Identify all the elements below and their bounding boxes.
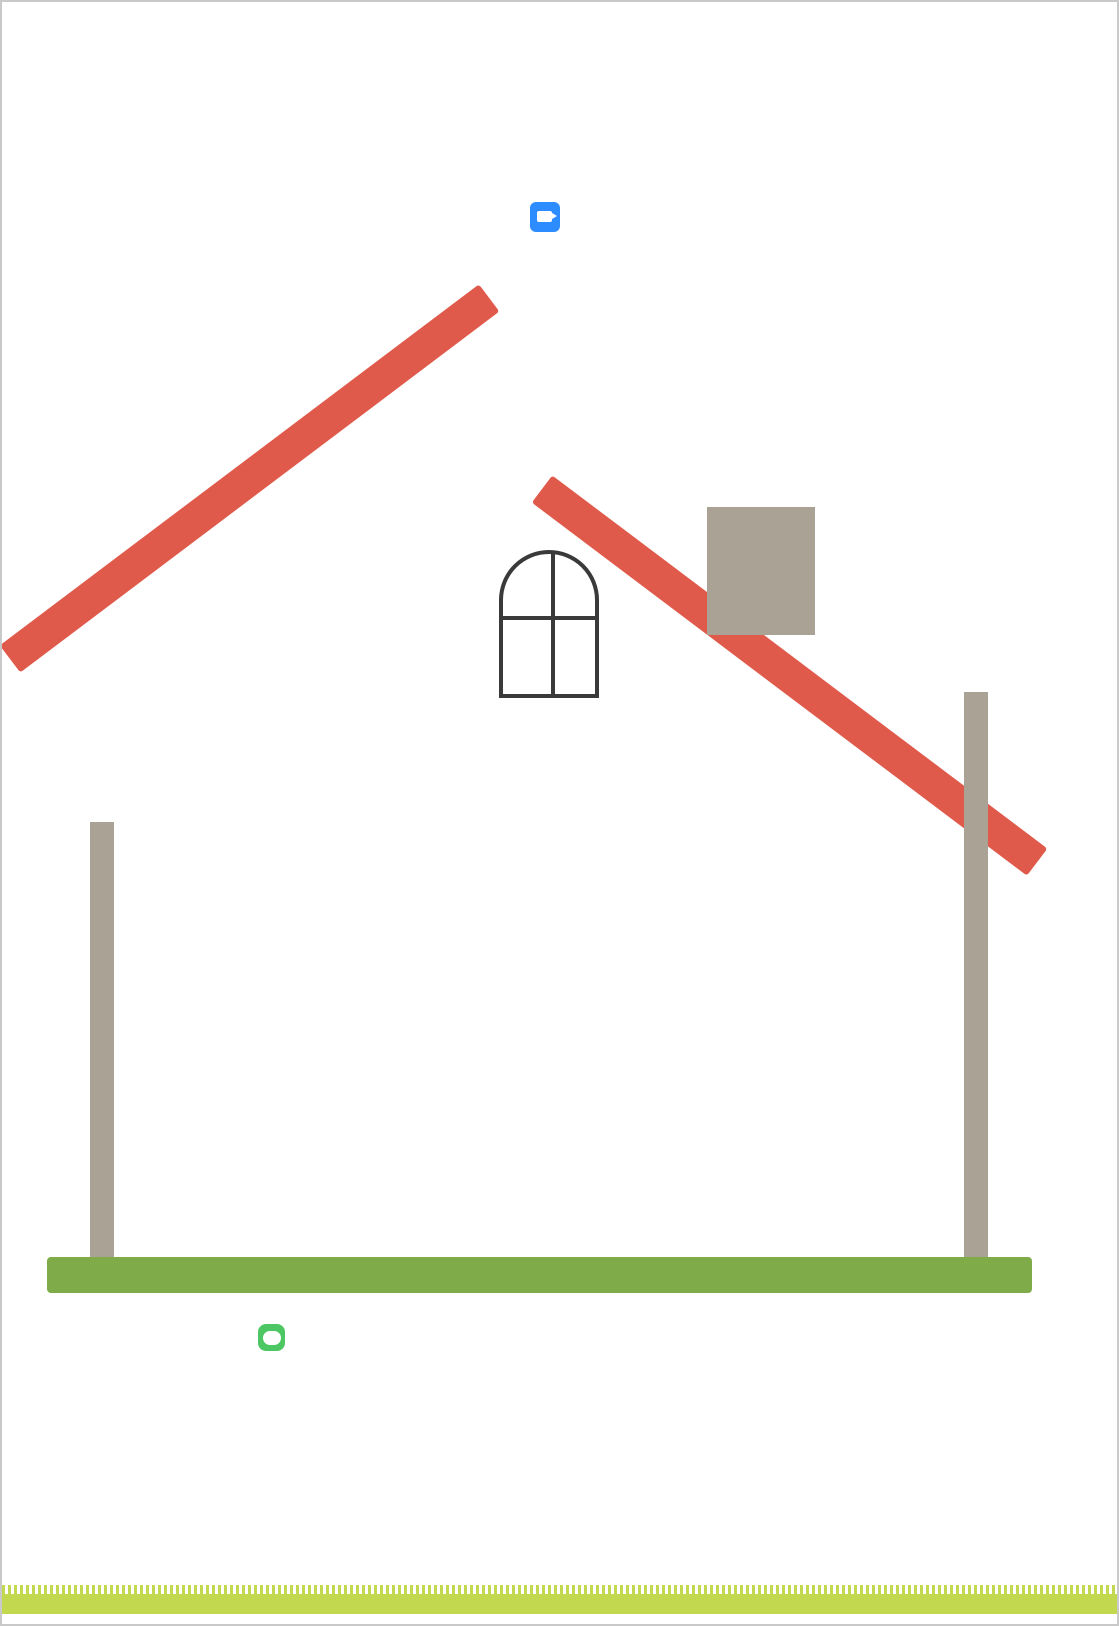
grass-strip <box>2 1594 1119 1616</box>
house-floor <box>47 1257 1032 1293</box>
line-icon <box>258 1324 285 1351</box>
pillar-left <box>90 822 114 1262</box>
online-banner <box>0 202 1109 232</box>
tree-row-illustration <box>2 1474 1119 1624</box>
pillar-right <box>964 692 988 1262</box>
line-icon-label <box>263 1331 281 1345</box>
apply-instruction-row <box>250 1324 309 1351</box>
qr-code-direct-application[interactable] <box>162 1372 248 1458</box>
zoom-icon <box>530 202 560 232</box>
window-icon <box>499 550 599 698</box>
roof-left <box>0 284 499 672</box>
qr-code-line-friend[interactable] <box>860 1370 946 1456</box>
poster-root <box>0 0 1119 1626</box>
chimney <box>707 507 815 635</box>
